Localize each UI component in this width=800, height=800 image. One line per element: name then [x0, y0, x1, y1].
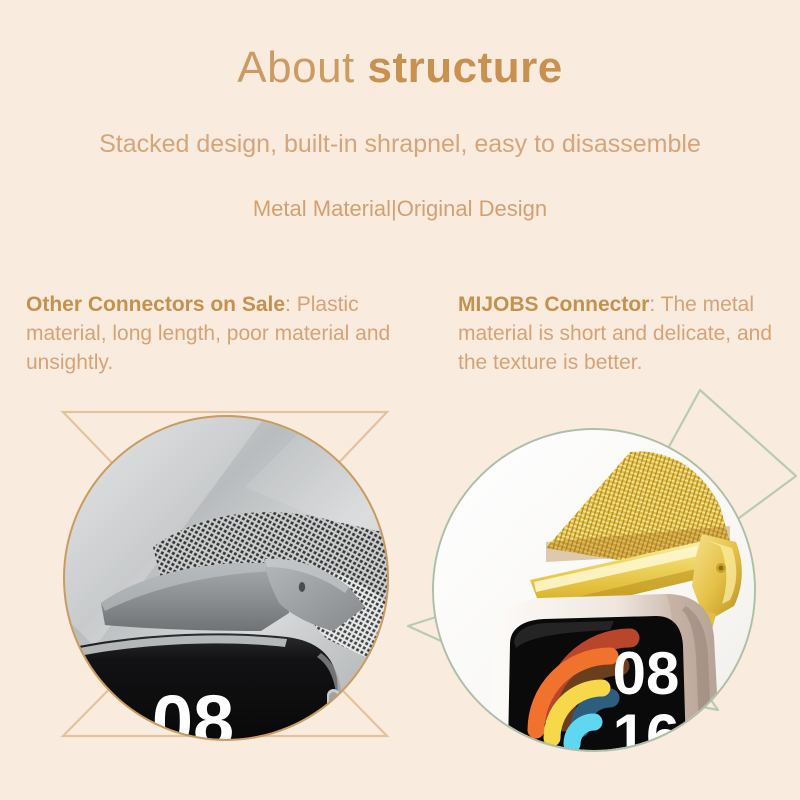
watch-time-minute-right: 16	[613, 702, 680, 750]
caption-other-connectors: Other Connectors on Sale: Plastic materi…	[26, 290, 416, 377]
caption-mijobs-connector: MIJOBS Connector: The metal material is …	[458, 290, 788, 377]
gold-metal-mesh-connector-photo: 08 16	[434, 430, 754, 750]
photo-other-connector: 08	[63, 415, 389, 741]
subtitle-secondary: Metal Material|Original Design	[0, 194, 800, 224]
promo-page: About structure Stacked design, built-in…	[0, 0, 800, 800]
page-header: About structure	[0, 42, 800, 94]
page-title-light: About	[237, 43, 367, 92]
watch-time-hour-right: 08	[613, 640, 680, 707]
page-title: About structure	[0, 42, 800, 94]
watch-time-left: 08	[152, 680, 234, 739]
caption-lead-mijobs: MIJOBS Connector	[458, 293, 649, 316]
photo-mijobs-connector: 08 16	[432, 428, 756, 752]
page-title-bold: structure	[368, 43, 563, 92]
grey-metal-mesh-connector-photo: 08	[65, 417, 387, 739]
caption-lead-other: Other Connectors on Sale	[26, 293, 285, 316]
subtitle-primary: Stacked design, built-in shrapnel, easy …	[0, 128, 800, 160]
